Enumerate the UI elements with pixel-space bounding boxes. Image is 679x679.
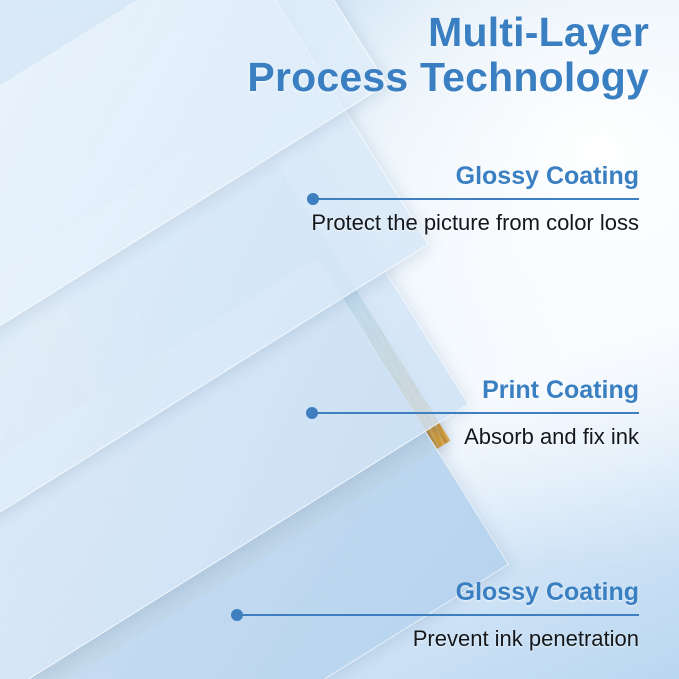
callout-description: Protect the picture from color loss <box>307 210 639 236</box>
title-line-1: Multi-Layer <box>428 9 649 55</box>
title-line-2: Process Technology <box>247 55 649 100</box>
callout-heading: Print Coating <box>306 376 639 405</box>
callout-glossy-coating-top: Glossy Coating Protect the picture from … <box>307 162 639 236</box>
page-title: Multi-Layer Process Technology <box>247 10 649 100</box>
leader-line <box>306 407 639 419</box>
product-feature-graphic: Multi-Layer Process Technology Glossy Co… <box>0 0 679 679</box>
callout-heading: Glossy Coating <box>231 578 639 607</box>
callout-description: Prevent ink penetration <box>231 626 639 652</box>
callout-heading: Glossy Coating <box>307 162 639 191</box>
leader-line-stroke <box>313 198 639 200</box>
callout-description: Absorb and fix ink <box>306 424 639 450</box>
leader-line-stroke <box>237 614 639 616</box>
leader-line <box>231 609 639 621</box>
callout-print-coating: Print Coating Absorb and fix ink <box>306 376 639 450</box>
leader-line <box>307 193 639 205</box>
callout-glossy-coating-bottom: Glossy Coating Prevent ink penetration <box>231 578 639 652</box>
leader-line-stroke <box>312 412 639 414</box>
